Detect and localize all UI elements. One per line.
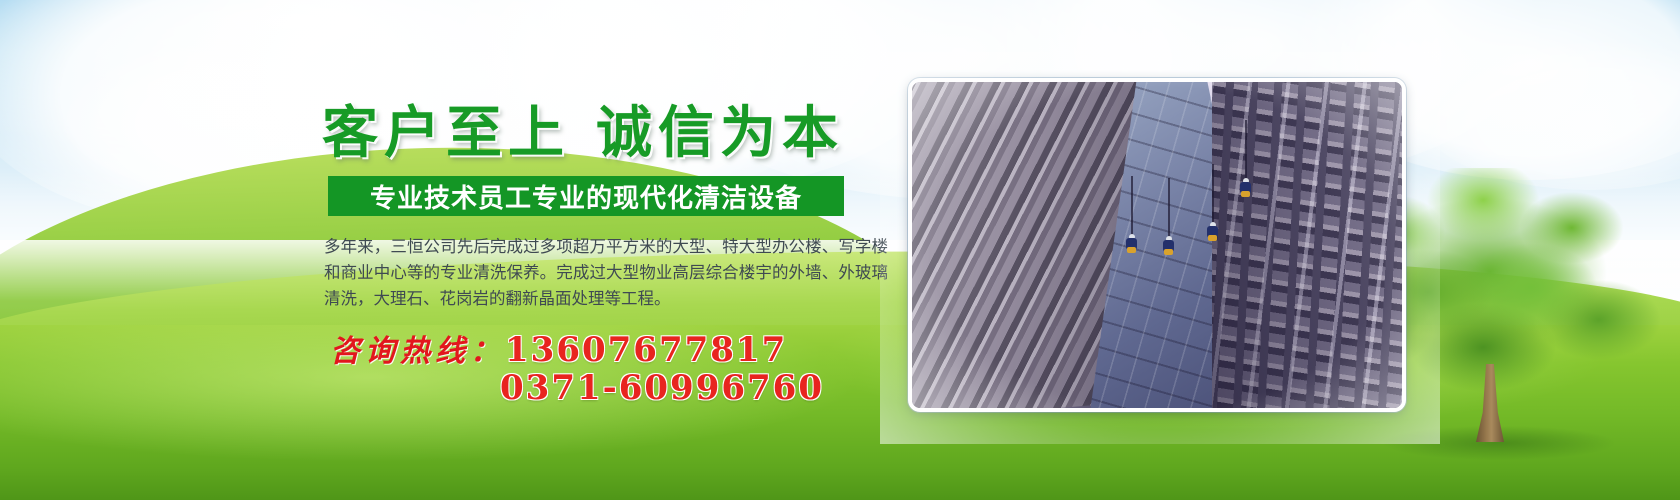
building-photo[interactable]	[908, 78, 1406, 412]
window-cleaner-worker	[1126, 234, 1137, 256]
hotline-mobile-number[interactable]: 13607677817	[505, 330, 787, 370]
subtitle-bar: 专业技术员工专业的现代化清洁设备	[328, 176, 844, 216]
banner-description: 多年来，三恒公司先后完成过多项超万平方米的大型、特大型办公楼、写字楼和商业中心等…	[324, 234, 888, 312]
promo-banner: 客户至上诚信为本 专业技术员工专业的现代化清洁设备 多年来，三恒公司先后完成过多…	[0, 0, 1680, 500]
hotline-row: 咨询热线： 13607677817	[330, 326, 787, 370]
building-right-shading	[1212, 78, 1406, 412]
headline-part-2: 诚信为本	[596, 100, 844, 166]
headline-part-1: 客户至上	[322, 100, 570, 166]
subtitle-text: 专业技术员工专业的现代化清洁设备	[370, 178, 802, 215]
worker-bucket	[1208, 235, 1217, 241]
rope-line	[1131, 176, 1133, 238]
window-cleaner-worker	[1163, 236, 1174, 258]
rope-line	[1245, 120, 1247, 182]
landline-row: 0371-60996760	[500, 368, 824, 408]
rope-line	[1212, 164, 1214, 226]
window-cleaner-worker	[1207, 222, 1218, 244]
window-cleaner-worker	[1240, 178, 1251, 200]
rope-line	[1168, 178, 1170, 240]
hotline-landline-number[interactable]: 0371-60996760	[500, 368, 824, 408]
description-text: 多年来，三恒公司先后完成过多项超万平方米的大型、特大型办公楼、写字楼和商业中心等…	[324, 234, 888, 312]
banner-headline: 客户至上诚信为本	[322, 104, 844, 163]
worker-bucket	[1127, 247, 1136, 253]
worker-bucket	[1241, 191, 1250, 197]
worker-bucket	[1164, 249, 1173, 255]
hotline-label: 咨询热线：	[330, 326, 505, 370]
